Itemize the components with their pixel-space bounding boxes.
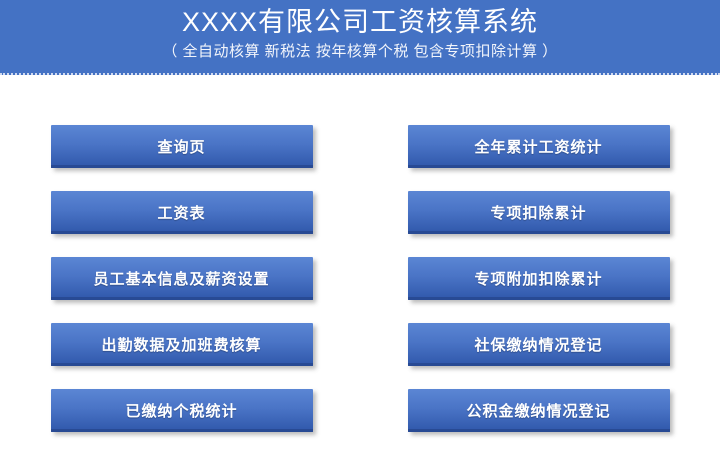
menu-button-employee-info-salary-settings[interactable]: 员工基本信息及薪资设置 — [51, 257, 313, 300]
menu-button-special-additional-deduction-total[interactable]: 专项附加扣除累计 — [408, 257, 670, 300]
menu-button-paid-tax-statistics[interactable]: 已缴纳个税统计 — [51, 389, 313, 432]
menu-button-label: 已缴纳个税统计 — [125, 400, 237, 421]
menu-column-right: 全年累计工资统计 专项扣除累计 专项附加扣除累计 社保缴纳情况登记 公积金缴纳情… — [408, 125, 670, 432]
menu-button-label: 专项扣除累计 — [490, 202, 586, 223]
menu-button-label: 全年累计工资统计 — [474, 136, 602, 157]
menu-button-label: 工资表 — [157, 202, 205, 223]
menu-button-label: 员工基本信息及薪资设置 — [93, 268, 269, 289]
menu-button-attendance-overtime[interactable]: 出勤数据及加班费核算 — [51, 323, 313, 366]
main-menu: 查询页 工资表 员工基本信息及薪资设置 出勤数据及加班费核算 已缴纳个税统计 全… — [0, 75, 720, 450]
page-title: XXXX有限公司工资核算系统 — [0, 0, 720, 39]
menu-button-payroll-table[interactable]: 工资表 — [51, 191, 313, 234]
menu-button-housing-fund-registration[interactable]: 公积金缴纳情况登记 — [408, 389, 670, 432]
menu-column-left: 查询页 工资表 员工基本信息及薪资设置 出勤数据及加班费核算 已缴纳个税统计 — [51, 125, 313, 432]
menu-button-social-insurance-registration[interactable]: 社保缴纳情况登记 — [408, 323, 670, 366]
menu-button-query-page[interactable]: 查询页 — [51, 125, 313, 168]
menu-button-label: 专项附加扣除累计 — [474, 268, 602, 289]
menu-button-label: 社保缴纳情况登记 — [474, 334, 602, 355]
menu-button-annual-salary-statistics[interactable]: 全年累计工资统计 — [408, 125, 670, 168]
menu-button-label: 出勤数据及加班费核算 — [101, 334, 261, 355]
app-header: XXXX有限公司工资核算系统 （ 全自动核算 新税法 按年核算个税 包含专项扣除… — [0, 0, 720, 75]
page-subtitle: （ 全自动核算 新税法 按年核算个税 包含专项扣除计算 ） — [0, 39, 720, 63]
payroll-system-home: XXXX有限公司工资核算系统 （ 全自动核算 新税法 按年核算个税 包含专项扣除… — [0, 0, 720, 450]
menu-button-label: 查询页 — [157, 136, 205, 157]
menu-button-special-deduction-total[interactable]: 专项扣除累计 — [408, 191, 670, 234]
menu-button-label: 公积金缴纳情况登记 — [466, 400, 610, 421]
